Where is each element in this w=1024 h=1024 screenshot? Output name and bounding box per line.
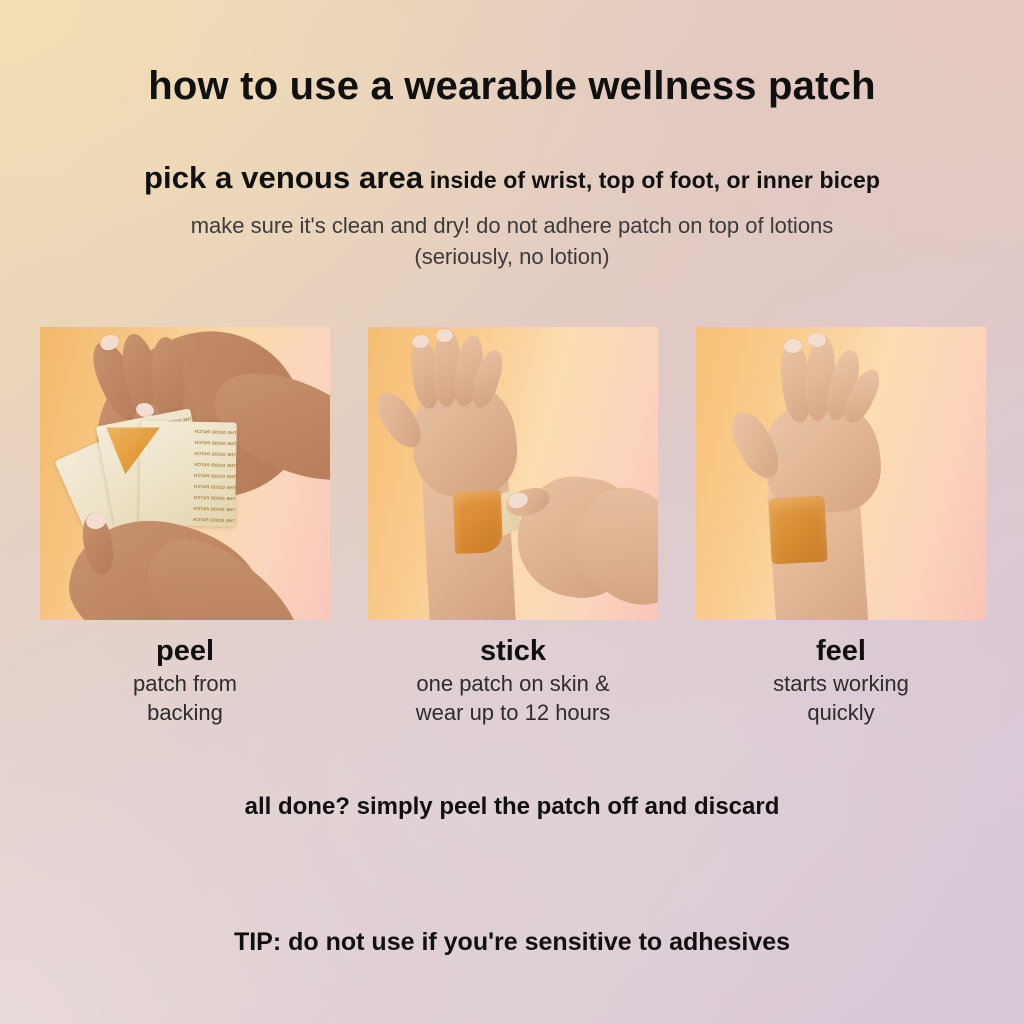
patch-on-wrist — [453, 490, 503, 554]
caption-line-2: wear up to 12 hours — [348, 699, 678, 728]
body-note-line-2: (seriously, no lotion) — [0, 241, 1024, 272]
caption-word: stick — [348, 634, 678, 668]
patch-on-wrist — [768, 496, 827, 565]
caption-line-1: one patch on skin & — [348, 670, 678, 699]
fingernail-middle — [436, 329, 453, 342]
infographic-page: how to use a wearable wellness patch pic… — [0, 0, 1024, 1024]
step-image-peel: THE GOOD PATCHTHE GOOD PATCH THE GOOD PA… — [40, 327, 330, 620]
caption-peel: peel patch from backing — [40, 634, 330, 727]
patch-card-text: THE GOOD PATCHTHE GOOD PATCH THE GOOD PA… — [139, 421, 237, 527]
caption-word: feel — [696, 634, 986, 668]
photo-feel — [696, 327, 986, 620]
caption-line-2: quickly — [696, 699, 986, 728]
patch-card: THE GOOD PATCHTHE GOOD PATCH THE GOOD PA… — [139, 421, 237, 527]
step-caption-row: peel patch from backing stick one patch … — [40, 634, 986, 744]
caption-line-1: patch from — [40, 670, 330, 699]
photo-stick — [368, 327, 658, 620]
caption-word: peel — [40, 634, 330, 668]
caption-feel: feel starts working quickly — [696, 634, 986, 727]
step-image-row: THE GOOD PATCHTHE GOOD PATCH THE GOOD PA… — [40, 327, 986, 620]
caption-line-2: backing — [40, 699, 330, 728]
body-note-line-1: make sure it's clean and dry! do not adh… — [0, 210, 1024, 241]
subheading-detail: inside of wrist, top of foot, or inner b… — [430, 167, 880, 193]
subheading: pick a venous area inside of wrist, top … — [0, 160, 1024, 196]
photo-peel: THE GOOD PATCHTHE GOOD PATCH THE GOOD PA… — [40, 327, 330, 620]
closing-line: all done? simply peel the patch off and … — [0, 793, 1024, 821]
caption-line-1: starts working — [696, 670, 986, 699]
step-image-feel — [696, 327, 986, 620]
body-note: make sure it's clean and dry! do not adh… — [0, 210, 1024, 272]
step-image-stick — [368, 327, 658, 620]
tip-line: TIP: do not use if you're sensitive to a… — [0, 928, 1024, 957]
caption-stick: stick one patch on skin & wear up to 12 … — [368, 634, 658, 727]
subheading-emphasis: pick a venous area — [144, 160, 423, 195]
page-title: how to use a wearable wellness patch — [0, 64, 1024, 109]
